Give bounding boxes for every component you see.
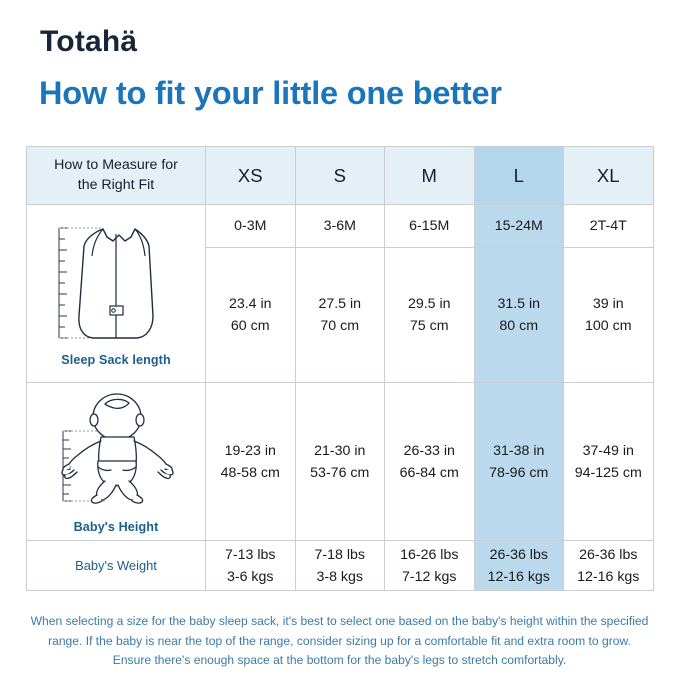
sack-length-s: 27.5 in 70 cm <box>295 248 385 383</box>
sizing-table: How to Measure for the Right Fit XS S M … <box>26 146 654 591</box>
height-l: 31-38 in 78-96 cm <box>474 383 564 541</box>
column-header-xs[interactable]: XS <box>206 147 296 205</box>
height-xs: 19-23 in 48-58 cm <box>206 383 296 541</box>
table-header-row: How to Measure for the Right Fit XS S M … <box>27 147 654 205</box>
note-line-3: Ensure there's enough space at the botto… <box>26 651 653 671</box>
height-xl: 37-49 in 94-125 cm <box>564 383 654 541</box>
age-row: Sleep Sack length 0-3M 3-6M 6-15M 15-24M… <box>27 205 654 248</box>
header-measure-label: How to Measure for the Right Fit <box>27 147 206 205</box>
brand-logo: Totahä <box>40 27 137 57</box>
babys-height-label: Baby's Height <box>74 520 159 534</box>
baby-illustration-cell: Baby's Height <box>27 383 206 541</box>
column-header-l[interactable]: L <box>474 147 564 205</box>
height-s: 21-30 in 53-76 cm <box>295 383 385 541</box>
sack-length-l: 31.5 in 80 cm <box>474 248 564 383</box>
header-measure-line2: the Right Fit <box>78 177 155 193</box>
weight-m: 16-26 lbs 7-12 kgs <box>385 541 475 591</box>
sack-length-m: 29.5 in 75 cm <box>385 248 475 383</box>
header-measure-line1: How to Measure for <box>54 157 178 173</box>
babys-weight-label: Baby's Weight <box>27 541 206 591</box>
age-value-s: 3-6M <box>295 205 385 248</box>
sleep-sack-length-label: Sleep Sack length <box>61 353 171 367</box>
sack-length-xs: 23.4 in 60 cm <box>206 248 296 383</box>
column-header-s[interactable]: S <box>295 147 385 205</box>
weight-l: 26-36 lbs 12-16 kgs <box>474 541 564 591</box>
weight-xl: 26-36 lbs 12-16 kgs <box>564 541 654 591</box>
baby-icon <box>41 389 191 517</box>
sleep-sack-illustration-cell: Sleep Sack length <box>27 205 206 383</box>
weight-xs: 7-13 lbs 3-6 kgs <box>206 541 296 591</box>
size-guide-page: Totahä How to fit your little one better… <box>0 0 679 679</box>
age-value-m: 6-15M <box>385 205 475 248</box>
note-line-1: When selecting a size for the baby sleep… <box>26 612 653 632</box>
note-line-2: range. If the baby is near the top of th… <box>26 632 653 652</box>
babys-height-row: Baby's Height 19-23 in 48-58 cm 21-30 in… <box>27 383 654 541</box>
column-header-m[interactable]: M <box>385 147 475 205</box>
column-header-xl[interactable]: XL <box>564 147 654 205</box>
age-value-xl: 2T-4T <box>564 205 654 248</box>
weight-s: 7-18 lbs 3-8 kgs <box>295 541 385 591</box>
sleep-sack-icon <box>41 220 191 350</box>
age-value-l: 15-24M <box>474 205 564 248</box>
sack-length-xl: 39 in 100 cm <box>564 248 654 383</box>
sizing-note: When selecting a size for the baby sleep… <box>26 612 653 671</box>
page-title: How to fit your little one better <box>39 76 502 110</box>
height-m: 26-33 in 66-84 cm <box>385 383 475 541</box>
babys-weight-row: Baby's Weight 7-13 lbs 3-6 kgs 7-18 lbs … <box>27 541 654 591</box>
age-value-xs: 0-3M <box>206 205 296 248</box>
